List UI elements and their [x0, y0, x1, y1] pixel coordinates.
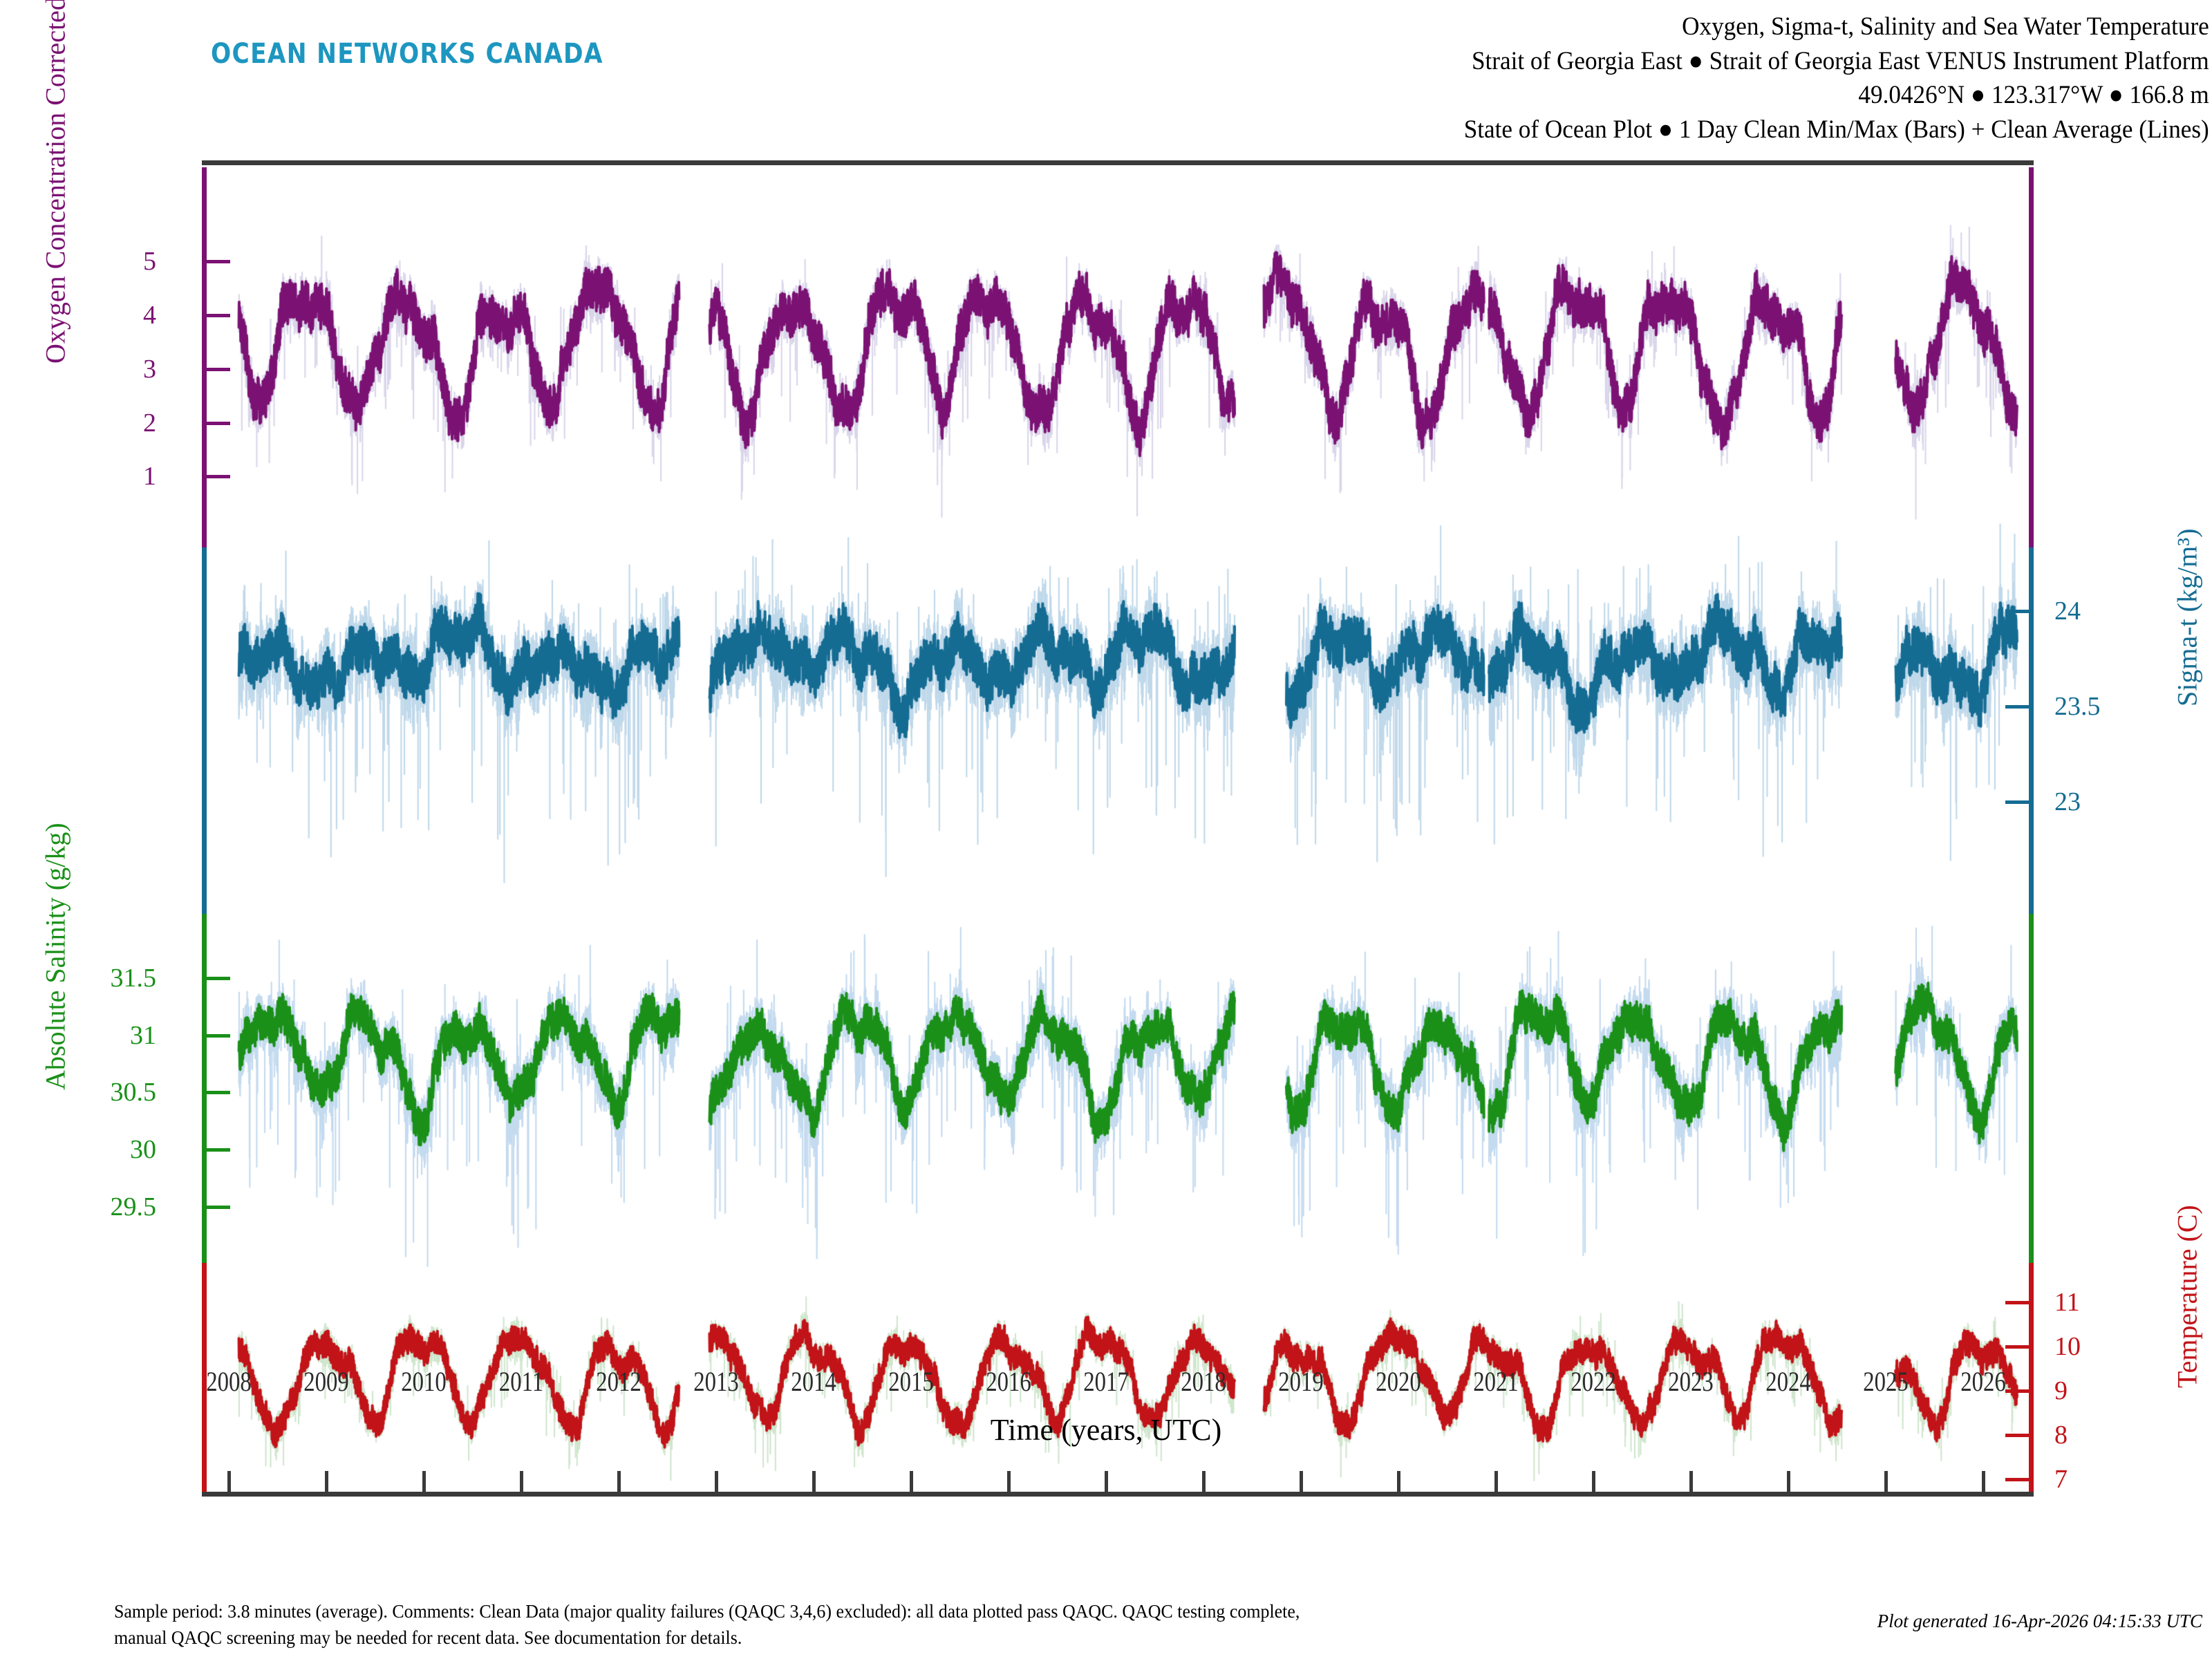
x-tick-label: 2021 [1473, 1365, 1519, 1398]
x-tick-label: 2023 [1668, 1365, 1714, 1398]
x-tick-label: 2020 [1376, 1365, 1421, 1398]
y-tick-temperature [2005, 1345, 2029, 1349]
x-tick [325, 1471, 328, 1492]
footnote: Sample period: 3.8 minutes (average). Co… [114, 1598, 1300, 1651]
axis-spine-oxygen-left [202, 167, 207, 547]
x-tick [812, 1471, 816, 1492]
x-tick-label: 2018 [1181, 1365, 1226, 1398]
y-tick-sigma_t [2005, 705, 2029, 709]
axis-spine-sigma_t-right [2029, 547, 2034, 914]
x-tick [1982, 1471, 1985, 1492]
x-tick-label: 2017 [1083, 1365, 1129, 1398]
y-tick-label-temperature: 7 [2054, 1464, 2068, 1494]
plot-bottom-border [202, 1492, 2034, 1497]
y-tick-label-oxygen: 3 [143, 354, 156, 384]
y-tick-temperature [2005, 1301, 2029, 1304]
x-tick-label: 2008 [207, 1365, 252, 1398]
y-tick-label-salinity: 30 [130, 1134, 156, 1165]
footnote-line-2: manual QAQC screening may be needed for … [114, 1624, 1300, 1651]
y-tick-label-temperature: 8 [2054, 1420, 2068, 1450]
plot-generated-stamp: Plot generated 16-Apr-2026 04:15:33 UTC [1877, 1611, 2202, 1632]
x-tick [715, 1471, 718, 1492]
x-tick [910, 1471, 913, 1492]
x-tick-label: 2012 [596, 1365, 641, 1398]
y-tick-temperature [2005, 1478, 2029, 1481]
x-tick [227, 1471, 231, 1492]
axis-spine-temperature-right [2029, 1263, 2034, 1492]
x-tick-label: 2015 [888, 1365, 934, 1398]
y-tick-label-sigma_t: 24 [2054, 596, 2081, 626]
y-tick-salinity [207, 1206, 230, 1209]
x-tick [1689, 1471, 1693, 1492]
x-tick [1300, 1471, 1303, 1492]
title-line-3: 49.0426°N ● 123.317°W ● 166.8 m [1464, 78, 2209, 113]
y-tick-label-temperature: 11 [2054, 1287, 2080, 1318]
x-tick [520, 1471, 523, 1492]
x-tick-label: 2019 [1278, 1365, 1324, 1398]
y-tick-temperature [2005, 1434, 2029, 1437]
y-tick-label-temperature: 9 [2054, 1376, 2068, 1406]
y-tick-salinity [207, 1148, 230, 1152]
x-tick-label: 2010 [402, 1365, 447, 1398]
y-tick-sigma_t [2005, 800, 2029, 804]
plot-top-border [202, 160, 2034, 165]
y-tick-salinity [207, 1034, 230, 1038]
y-tick-label-salinity: 31.5 [111, 963, 157, 993]
x-tick-label: 2026 [1960, 1365, 2006, 1398]
x-tick-label: 2014 [791, 1365, 836, 1398]
x-tick-label: 2009 [304, 1365, 350, 1398]
axis-spine-sigma_t-left [202, 547, 207, 914]
x-tick [1787, 1471, 1790, 1492]
y-tick-oxygen [207, 475, 230, 478]
y-tick-label-temperature: 10 [2054, 1331, 2081, 1362]
chart-title-block: Oxygen, Sigma-t, Salinity and Sea Water … [1425, 10, 2209, 147]
plot-area: 12345Oxygen Concentration Corrected (ml/… [202, 160, 2034, 1497]
y-tick-temperature [2005, 1389, 2029, 1393]
axis-spine-oxygen-right [2029, 167, 2034, 547]
x-tick-label: 2016 [986, 1365, 1031, 1398]
x-tick [1397, 1471, 1400, 1492]
y-tick-salinity [207, 1091, 230, 1094]
y-tick-salinity [207, 977, 230, 980]
y-tick-label-sigma_t: 23 [2054, 787, 2081, 817]
x-tick-label: 2022 [1571, 1365, 1616, 1398]
x-tick [1884, 1471, 1888, 1492]
title-line-4: State of Ocean Plot ● 1 Day Clean Min/Ma… [1464, 113, 2209, 147]
x-tick [617, 1471, 621, 1492]
x-tick-label: 2025 [1863, 1365, 1909, 1398]
y-tick-label-sigma_t: 23.5 [2054, 691, 2101, 722]
x-tick [1592, 1471, 1595, 1492]
series-canvas [202, 160, 2034, 1497]
x-axis-title: Time (years, UTC) [991, 1412, 1221, 1447]
x-tick [1007, 1471, 1011, 1492]
title-line-2: Strait of Georgia East ● Strait of Georg… [1464, 44, 2209, 79]
title-line-1: Oxygen, Sigma-t, Salinity and Sea Water … [1464, 10, 2209, 44]
y-tick-label-oxygen: 2 [143, 408, 156, 438]
ocean-networks-canada-logo: OCEAN NETWORKS CANADA [211, 38, 603, 70]
y-tick-label-oxygen: 4 [143, 300, 156, 330]
y-tick-label-salinity: 30.5 [111, 1077, 157, 1107]
y-tick-label-oxygen: 1 [143, 461, 156, 491]
y-tick-sigma_t [2005, 610, 2029, 613]
x-tick-label: 2011 [499, 1365, 543, 1398]
x-tick [1494, 1471, 1498, 1492]
x-tick-label: 2013 [693, 1365, 739, 1398]
x-tick [1105, 1471, 1108, 1492]
x-tick-label: 2024 [1765, 1365, 1811, 1398]
y-tick-oxygen [207, 260, 230, 263]
y-tick-label-oxygen: 5 [143, 246, 156, 276]
axis-spine-salinity-right [2029, 914, 2034, 1263]
y-tick-oxygen [207, 314, 230, 317]
x-tick [422, 1471, 426, 1492]
y-tick-oxygen [207, 368, 230, 371]
y-tick-oxygen [207, 422, 230, 425]
y-tick-label-salinity: 31 [130, 1020, 156, 1051]
y-tick-label-salinity: 29.5 [111, 1192, 157, 1222]
axis-spine-salinity-left [202, 914, 207, 1263]
footnote-line-1: Sample period: 3.8 minutes (average). Co… [114, 1598, 1300, 1624]
x-tick [1202, 1471, 1206, 1492]
